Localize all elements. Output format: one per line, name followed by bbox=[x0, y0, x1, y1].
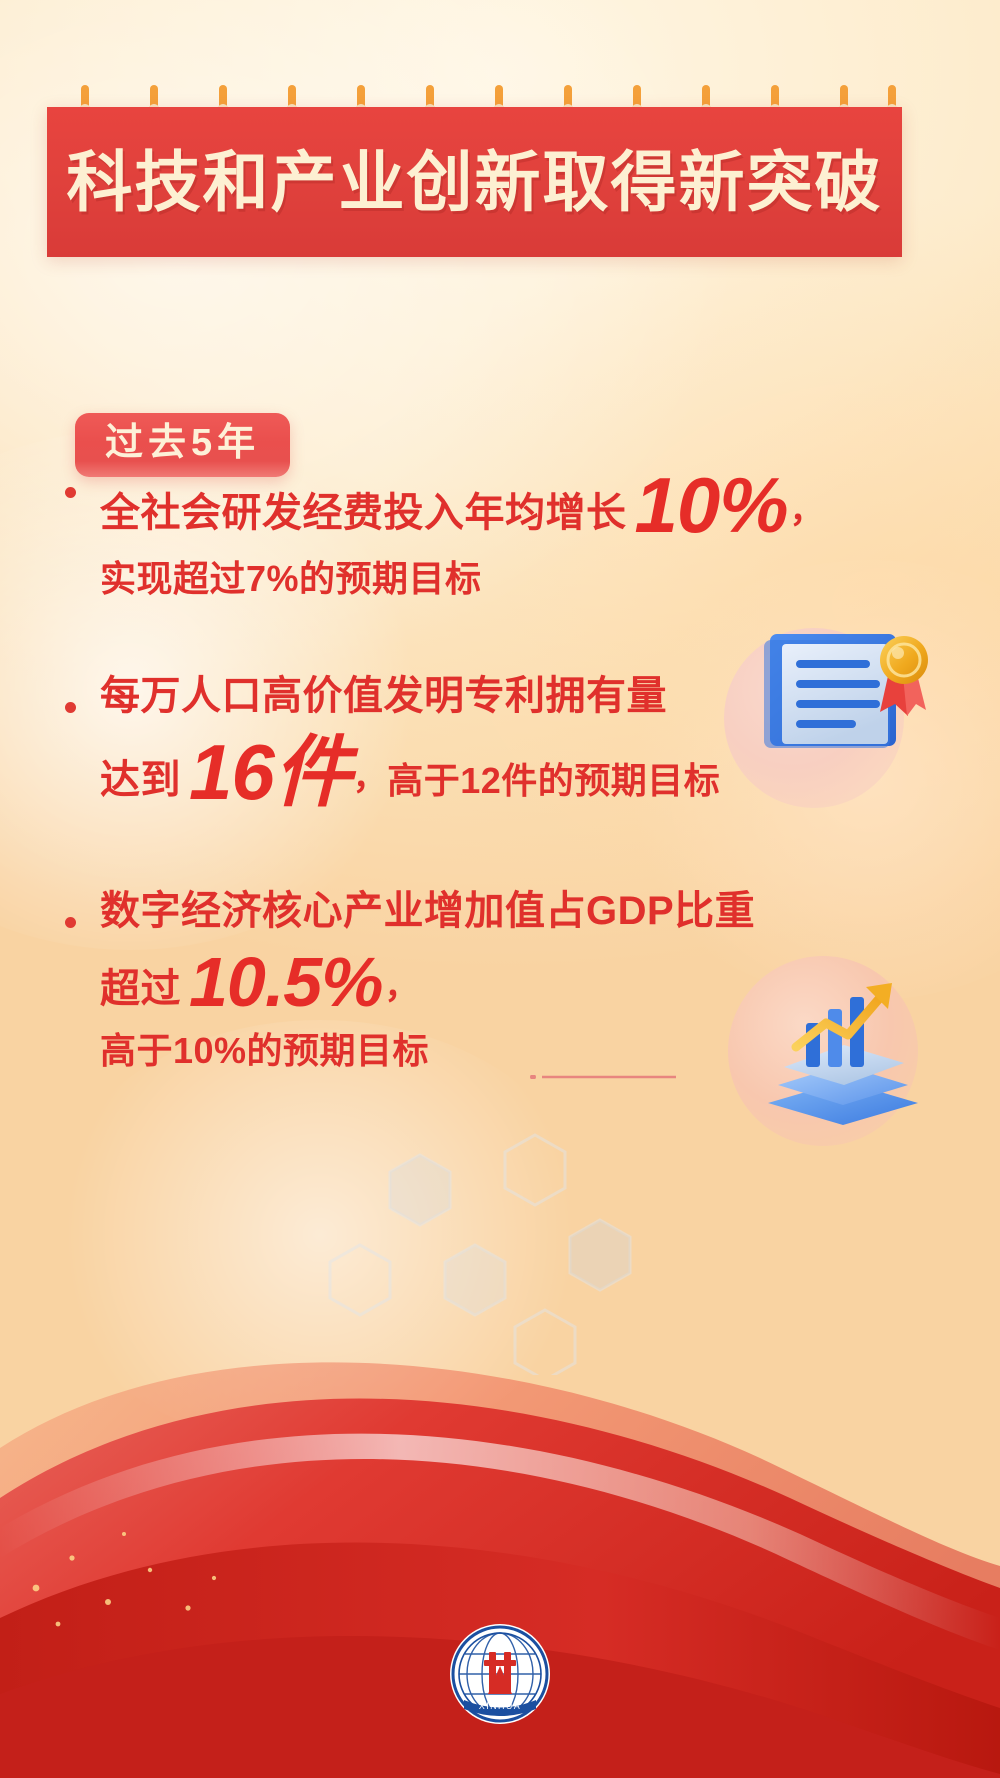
bullet-1-highlight: 10% bbox=[627, 461, 790, 549]
bullet-3-highlight: 10.5% bbox=[181, 943, 384, 1021]
bullet-3-text-prefix: 超过 bbox=[100, 967, 181, 1011]
bullet-2-text-suffix: 高于12件的预期目标 bbox=[387, 760, 720, 801]
bullet-3-line-2: 超过10.5%， bbox=[100, 937, 755, 1028]
sparkle-decoration bbox=[0, 1438, 300, 1658]
list-item: 全社会研发经费投入年均增长10%， 实现超过7%的预期目标 bbox=[55, 455, 824, 603]
bullet-2-highlight: 16件 bbox=[181, 728, 353, 816]
bullet-2-highlight-suffix: ， bbox=[353, 759, 388, 797]
bullet-1-text-prefix: 全社会研发经费投入年均增长 bbox=[100, 491, 627, 535]
growth-chart-icon bbox=[748, 975, 938, 1125]
bullet-dot-icon bbox=[65, 702, 76, 713]
infographic-poster: 科技和产业创新取得新突破 过去5年 全社会研发经费投入年均增长10%， 实现超过… bbox=[0, 0, 1000, 1778]
bullet-2-line-1: 每万人口高价值发明专利拥有量 bbox=[100, 670, 720, 722]
bullet-3-line-3: 高于10%的预期目标 bbox=[100, 1028, 755, 1075]
list-item: 每万人口高价值发明专利拥有量 达到16件，高于12件的预期目标 bbox=[55, 670, 720, 823]
certificate-award-icon bbox=[760, 620, 942, 752]
bullet-dot-icon bbox=[65, 487, 76, 498]
list-item: 数字经济核心产业增加值占GDP比重 超过10.5%， 高于10%的预期目标 bbox=[55, 885, 755, 1075]
bullet-1-highlight-suffix: ， bbox=[790, 492, 825, 530]
bullet-1-line-2: 实现超过7%的预期目标 bbox=[100, 556, 824, 603]
bullet-dot-icon bbox=[65, 917, 76, 928]
bullet-2-line-2: 达到16件，高于12件的预期目标 bbox=[100, 722, 720, 823]
title-banner: 科技和产业创新取得新突破 bbox=[47, 107, 902, 257]
logo-label: XINHUA bbox=[479, 1701, 521, 1711]
dashed-connector bbox=[530, 1075, 676, 1079]
title-banner-wrapper: 科技和产业创新取得新突破 bbox=[47, 107, 902, 257]
xinhua-logo: XINHUA bbox=[448, 1622, 552, 1726]
bullet-2-text-prefix: 达到 bbox=[100, 758, 181, 802]
bullet-3-line-1: 数字经济核心产业增加值占GDP比重 bbox=[100, 885, 755, 937]
bullet-3-highlight-suffix: ， bbox=[384, 968, 419, 1006]
page-title: 科技和产业创新取得新突破 bbox=[67, 149, 883, 215]
bullet-1-line-1: 全社会研发经费投入年均增长10%， bbox=[100, 455, 824, 556]
